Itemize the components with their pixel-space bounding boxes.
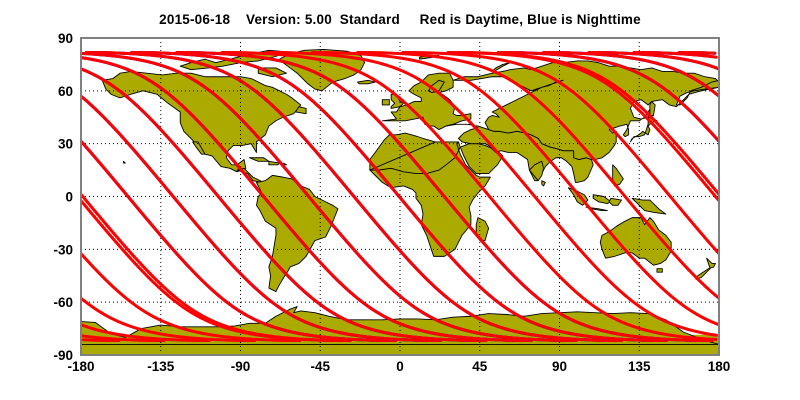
y-tick-label: 60 — [58, 84, 73, 99]
landmass-outline — [657, 269, 662, 273]
x-tick-label: 0 — [396, 359, 404, 374]
ground-track-plot: -180-135-90-4504590135180 -90-60-3003060… — [0, 0, 800, 400]
x-axis-tick-labels: -180-135-90-4504590135180 — [67, 359, 730, 374]
x-tick-label: -135 — [147, 359, 175, 374]
y-tick-label: 90 — [58, 31, 73, 46]
y-tick-label: -90 — [53, 348, 73, 363]
y-axis-tick-labels: -90-60-300306090 — [53, 31, 73, 363]
landmass-outline — [382, 100, 389, 105]
x-tick-label: 180 — [708, 359, 731, 374]
y-tick-label: -30 — [53, 242, 73, 257]
daytime-ground-track — [679, 52, 715, 53]
y-tick-label: 30 — [58, 137, 73, 152]
x-tick-label: -90 — [231, 359, 251, 374]
y-tick-label: -60 — [53, 295, 73, 310]
ground-track-map-page: 2015-06-18 Version: 5.00 Standard Red is… — [0, 0, 800, 400]
x-tick-label: 135 — [628, 359, 651, 374]
y-tick-label: 0 — [65, 190, 73, 205]
x-tick-label: -45 — [310, 359, 330, 374]
x-tick-label: 45 — [472, 359, 488, 374]
x-tick-label: 90 — [552, 359, 567, 374]
